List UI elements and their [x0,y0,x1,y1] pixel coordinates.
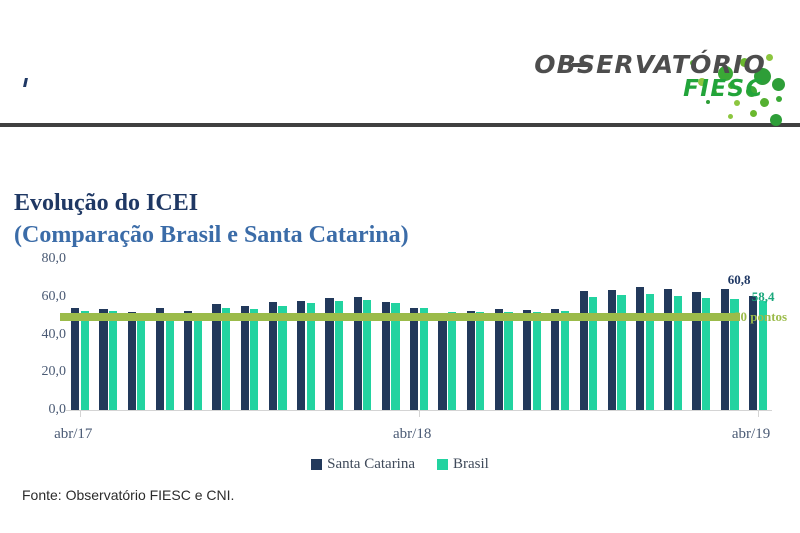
bar-santa-catarina [636,287,644,411]
bar-group [292,260,320,411]
bar-group [264,260,292,411]
bar-santa-catarina [664,289,672,411]
reference-line-50-pontos [60,313,740,321]
legend-swatch-icon [437,459,448,470]
y-axis-tick-label: 0,0 [49,402,67,418]
y-axis-tick-label: 60,0 [42,289,67,305]
bar-group [66,260,94,411]
bar-brasil [420,308,428,411]
page-title: Evolução do ICEI [14,190,198,217]
bar-santa-catarina [128,312,136,411]
bar-group [348,260,376,411]
x-axis-tick-label: abr/17 [54,426,92,443]
y-axis-tick-label: 20,0 [42,364,67,380]
bar-santa-catarina [495,309,503,411]
bar-santa-catarina [523,310,531,411]
bar-brasil [448,312,456,411]
bar-group [405,260,433,411]
y-axis-tick-label: 80,0 [42,251,67,267]
legend-item-brasil[interactable]: Brasil [437,456,489,473]
bar-group [518,260,546,411]
logo-dot-icon [728,114,733,119]
chart-plot-area [66,260,772,411]
bar-brasil [561,311,569,411]
bar-brasil [646,294,654,411]
bar-santa-catarina [71,308,79,411]
bar-brasil [194,314,202,411]
x-axis-tick [80,410,81,417]
page-subtitle: (Comparação Brasil e Santa Catarina) [14,222,409,249]
bar-group [546,260,574,411]
bar-group [94,260,122,411]
page-header: OBSERVATÓRIO FIESC [0,0,800,135]
bar-santa-catarina [721,289,729,411]
bar-brasil [278,306,286,411]
bar-brasil [250,309,258,411]
legend-swatch-icon [311,459,322,470]
bar-group [207,260,235,411]
bar-santa-catarina [551,309,559,411]
bar-santa-catarina [184,311,192,411]
bar-group [659,260,687,411]
data-label-santa-catarina: 60,8 [728,272,751,288]
bar-brasil [81,311,89,411]
bar-group [151,260,179,411]
bar-santa-catarina [467,311,475,411]
bar-santa-catarina [99,309,107,411]
x-axis-tick [419,410,420,417]
bar-brasil [476,312,484,411]
source-note: Fonte: Observatório FIESC e CNI. [22,487,234,503]
y-axis-tick-label: 40,0 [42,327,67,343]
bar-brasil [504,312,512,411]
bar-santa-catarina [608,290,616,411]
x-axis-tick-label: abr/19 [732,426,770,443]
x-axis-tick [758,410,759,417]
logo-subtext: FIESC [683,76,764,102]
bar-brasil [222,308,230,411]
bar-group [603,260,631,411]
logo-dot-icon [772,78,785,91]
legend-label: Brasil [453,456,489,473]
bar-group [122,260,150,411]
logo-dot-icon [770,114,782,126]
bar-santa-catarina [438,314,446,411]
bar-group [461,260,489,411]
bar-group [377,260,405,411]
bar-brasil [166,313,174,411]
bar-santa-catarina [410,308,418,411]
bar-group [235,260,263,411]
bar-group [433,260,461,411]
legend-item-santa-catarina[interactable]: Santa Catarina [311,456,415,473]
bar-brasil [137,315,145,411]
bar-santa-catarina [692,292,700,411]
bar-group [687,260,715,411]
bar-santa-catarina [580,291,588,411]
bar-group [631,260,659,411]
bar-santa-catarina [241,306,249,411]
x-axis-tick-label: abr/18 [393,426,431,443]
logo-dot-icon [766,54,773,61]
bar-group [320,260,348,411]
reference-line-label: 50 pontos [734,309,787,325]
legend-label: Santa Catarina [327,456,415,473]
logo-dot-icon [776,96,782,102]
chart-legend: Santa CatarinaBrasil [0,456,800,473]
bar-brasil [533,312,541,411]
data-label-brasil: 58,4 [752,289,775,305]
logo-wordmark: OBSERVATÓRIO [534,50,766,79]
bar-group [574,260,602,411]
icei-evolution-chart: 0,020,040,060,080,0 abr/17abr/18abr/19 5… [0,258,800,458]
logo-dot-icon [750,110,757,117]
bar-santa-catarina [156,308,164,411]
bar-group [490,260,518,411]
bar-group [179,260,207,411]
header-tick-mark [23,78,28,87]
bar-brasil [109,311,117,411]
